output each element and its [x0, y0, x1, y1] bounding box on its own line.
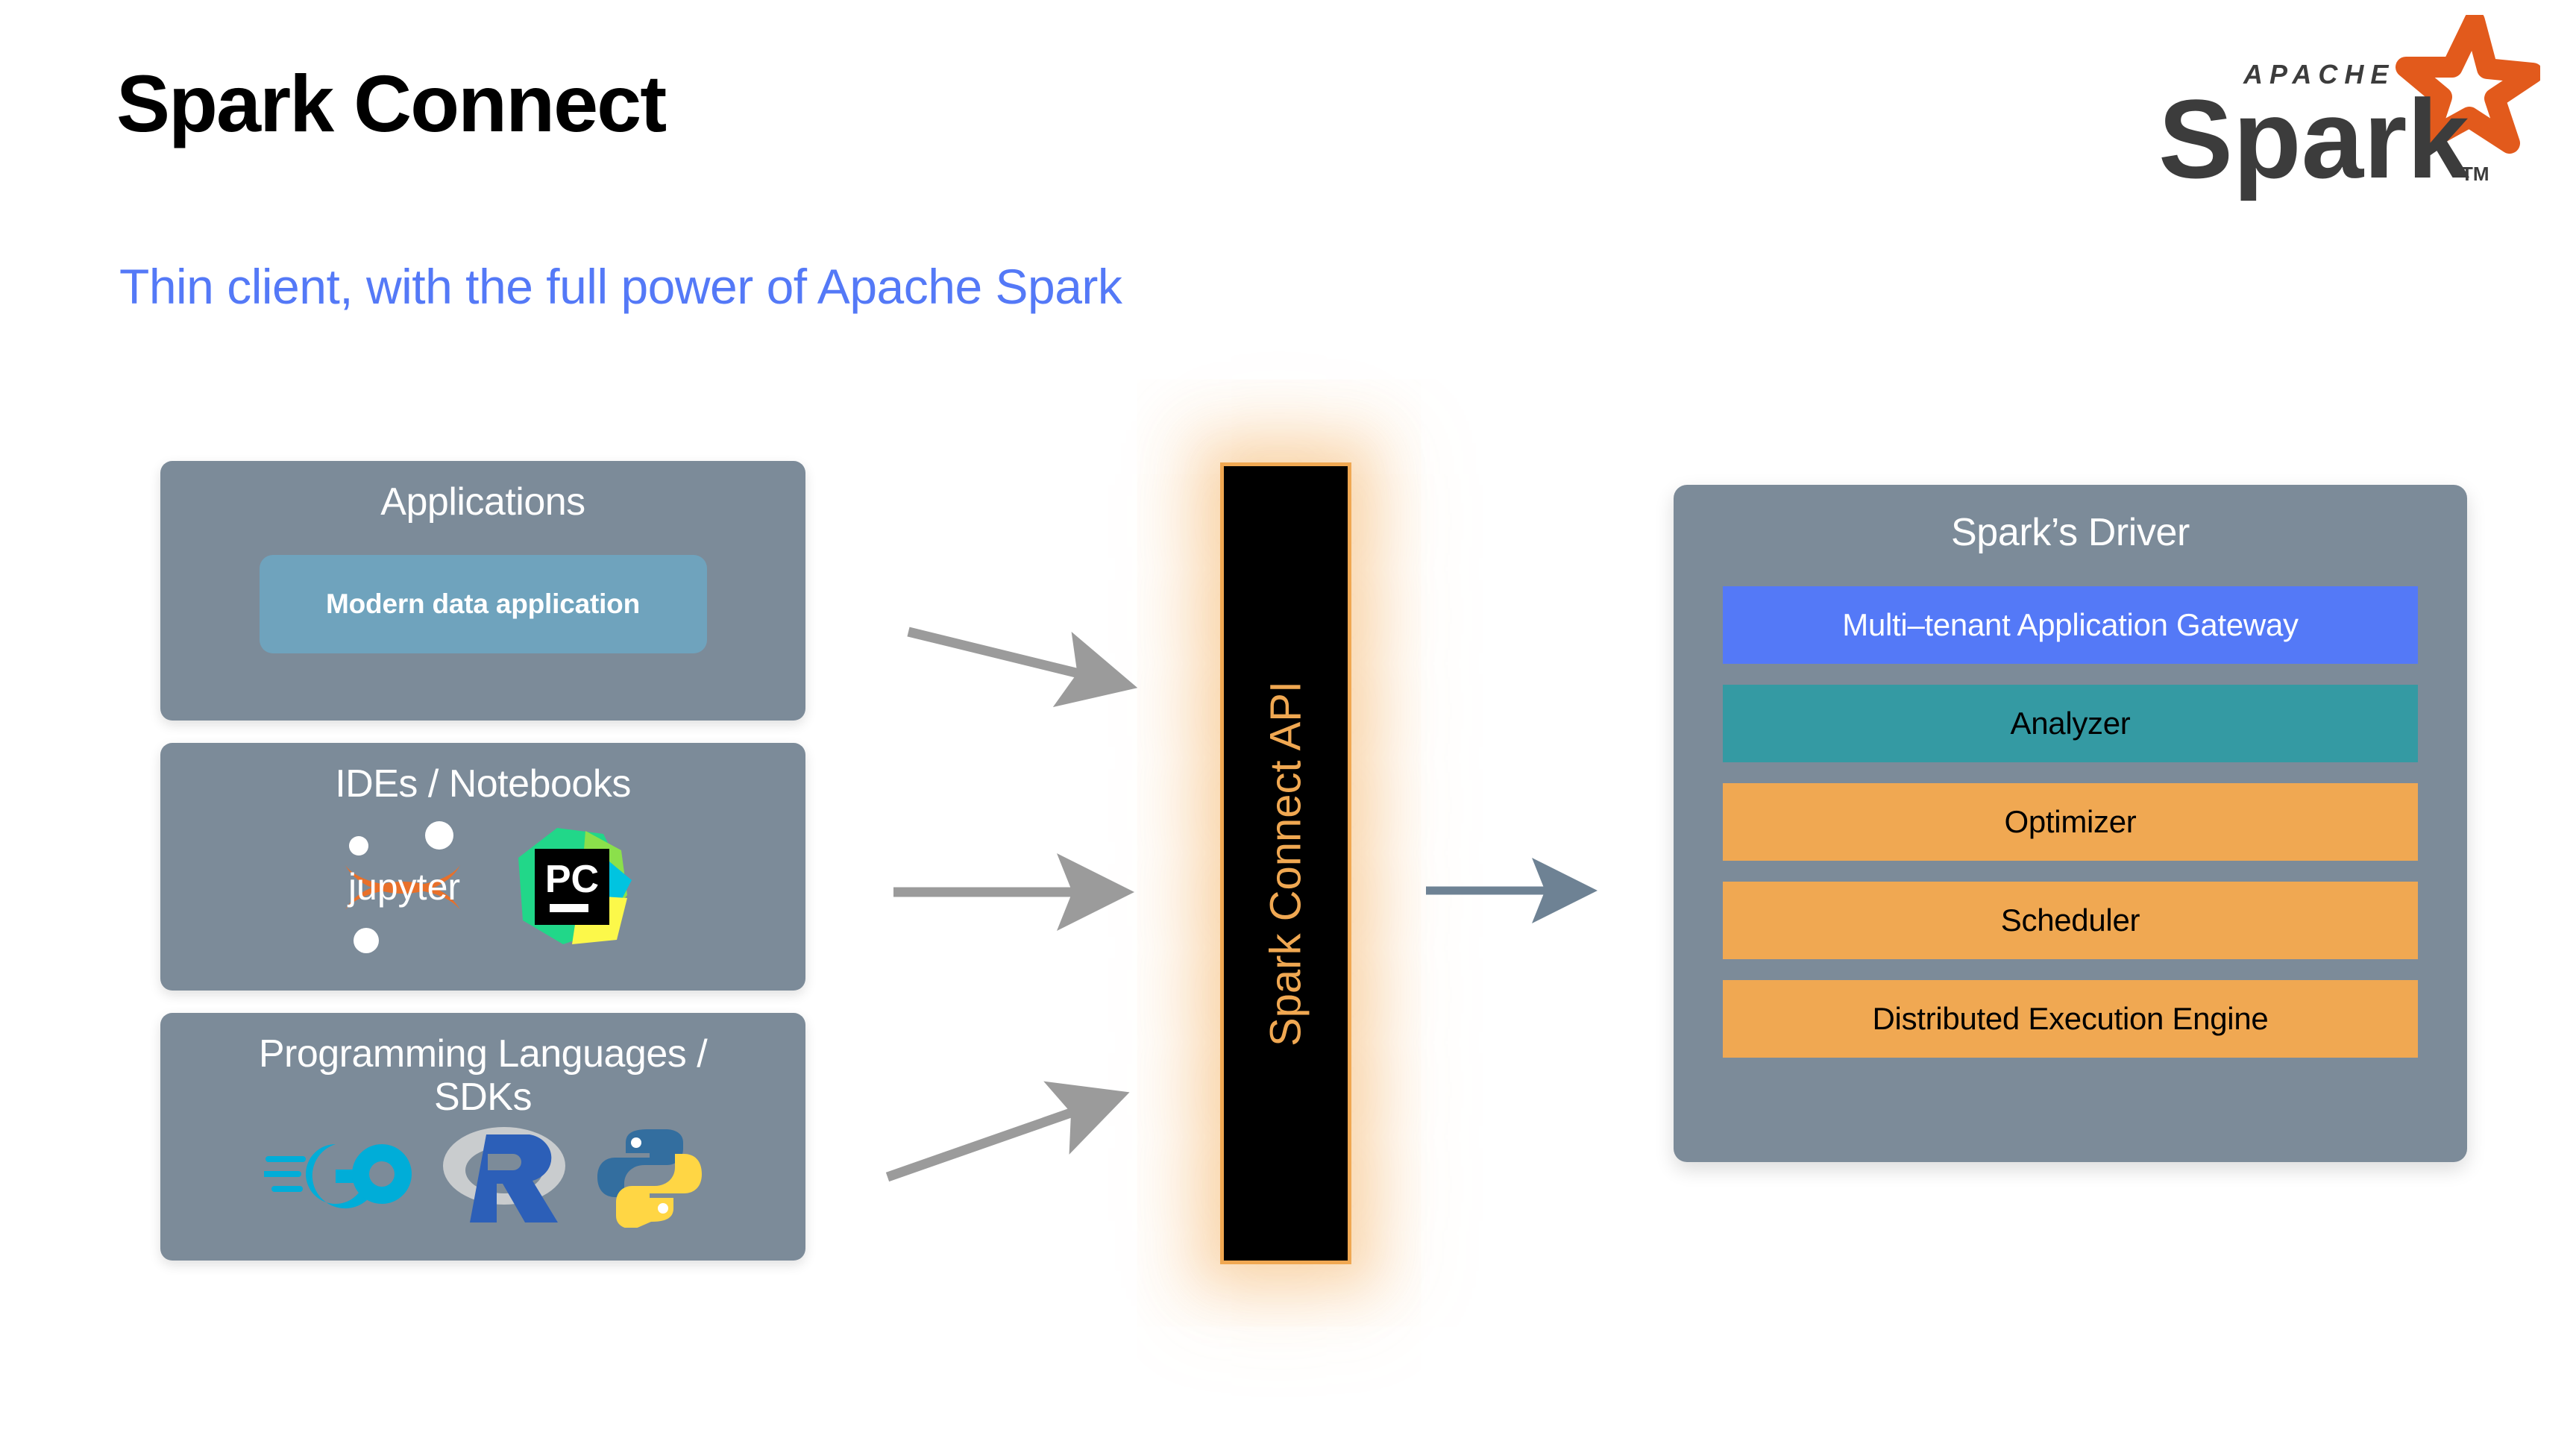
page-title: Spark Connect [116, 61, 665, 145]
client-box-title: Programming Languages / SDKs [259, 1032, 707, 1119]
r-logo [440, 1124, 571, 1231]
driver-row-execution-engine[interactable]: Distributed Execution Engine [1723, 980, 2418, 1058]
client-box-applications[interactable]: Applications Modern data application [160, 461, 805, 721]
driver-row-analyzer[interactable]: Analyzer [1723, 685, 2418, 762]
slide-root: Spark Connect Thin client, with the full… [0, 0, 2576, 1447]
go-logo [264, 1131, 413, 1224]
driver-row-label: Scheduler [2001, 903, 2140, 938]
driver-row-label: Multi–tenant Application Gateway [1842, 607, 2298, 643]
jupyter-logo: jupyter [333, 819, 475, 957]
arrow-languages-to-api [888, 1099, 1111, 1177]
svg-text:PC: PC [544, 858, 598, 901]
spark-connect-api-label: Spark Connect API [1261, 680, 1311, 1046]
driver-row-label: Distributed Execution Engine [1873, 1001, 2269, 1037]
spark-driver-title: Spark’s Driver [1723, 510, 2418, 555]
client-box-title-line1: Programming Languages / [259, 1032, 707, 1076]
modern-data-application-pill[interactable]: Modern data application [260, 555, 707, 653]
client-box-programming-languages[interactable]: Programming Languages / SDKs [160, 1013, 805, 1261]
svg-text:jupyter: jupyter [346, 866, 459, 908]
client-stack: Applications Modern data application IDE… [160, 461, 805, 1261]
spark-connect-api-bar[interactable]: Spark Connect API [1220, 462, 1351, 1264]
client-box-title: Applications [380, 480, 585, 524]
client-box-title: IDEs / Notebooks [335, 762, 631, 806]
driver-row-optimizer[interactable]: Optimizer [1723, 783, 2418, 861]
svg-text:Spark: Spark [2158, 76, 2469, 201]
driver-row-label: Optimizer [2005, 804, 2137, 840]
spark-driver-panel: Spark’s Driver Multi–tenant Application … [1674, 485, 2467, 1162]
language-logo-row [264, 1123, 702, 1231]
ide-logo-row: jupyter PC [333, 819, 633, 957]
pycharm-logo: PC [508, 823, 633, 952]
page-subtitle: Thin client, with the full power of Apac… [119, 260, 1122, 314]
driver-row-gateway[interactable]: Multi–tenant Application Gateway [1723, 586, 2418, 664]
driver-row-label: Analyzer [2010, 706, 2130, 741]
client-box-title-line2: SDKs [434, 1076, 532, 1119]
python-logo [597, 1123, 702, 1231]
svg-text:TM: TM [2461, 163, 2489, 185]
driver-row-scheduler[interactable]: Scheduler [1723, 882, 2418, 959]
arrow-applications-to-api [908, 632, 1119, 683]
apache-spark-logo: APACHE Spark TM [2152, 15, 2540, 224]
modern-data-application-label: Modern data application [326, 588, 640, 620]
client-box-ides-notebooks[interactable]: IDEs / Notebooks jupyter [160, 743, 805, 991]
